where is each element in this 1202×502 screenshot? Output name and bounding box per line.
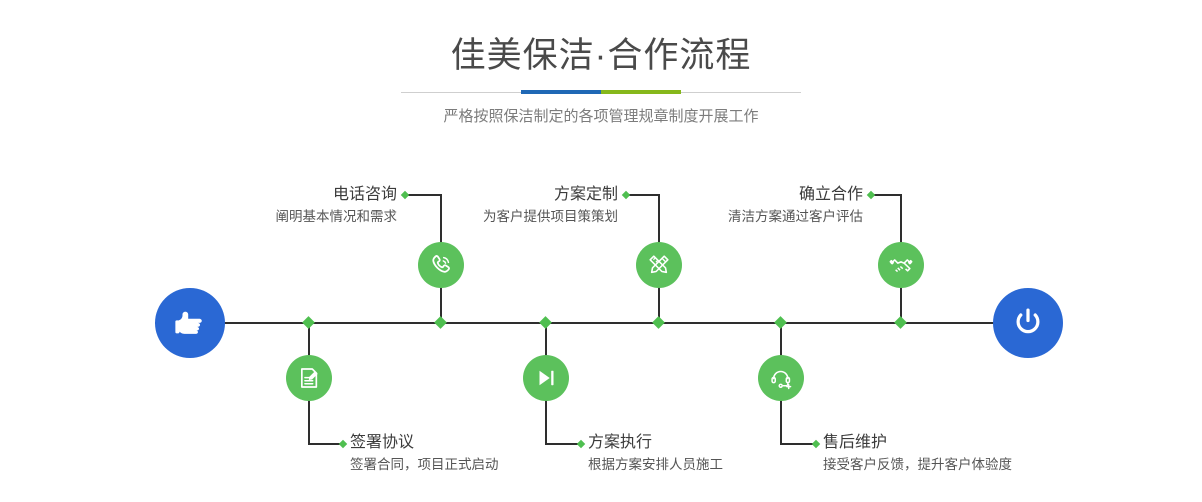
step-title-6: 售后维护: [823, 432, 1123, 453]
step-connector-h-6: [780, 443, 815, 445]
step-label-3: 方案定制 为客户提供项目策策划: [390, 184, 618, 227]
step-label-4: 方案执行 根据方案安排人员施工: [588, 432, 848, 475]
step-icon-3: [636, 242, 682, 288]
step-connector-h-1: [407, 194, 441, 196]
step-icon-5: [878, 242, 924, 288]
step-axis-marker-2: [302, 316, 315, 329]
step-icon-6: [758, 355, 804, 401]
step-axis-marker-4: [539, 316, 552, 329]
step-axis-marker-3: [652, 316, 665, 329]
timeline-axis: [155, 322, 1047, 324]
step-desc-5: 清洁方案通过客户评估: [635, 207, 863, 227]
step-icon-4: [523, 355, 569, 401]
step-connector-h-5: [873, 194, 901, 196]
step-desc-6: 接受客户反馈，提升客户体验度: [823, 455, 1123, 475]
step-desc-2: 签署合同，项目正式启动: [350, 455, 610, 475]
step-label-marker-5: [867, 191, 875, 199]
step-label-1: 电话咨询 阐明基本情况和需求: [165, 184, 397, 227]
play-next-icon: [533, 365, 559, 391]
step-desc-1: 阐明基本情况和需求: [165, 207, 397, 227]
step-label-marker-2: [339, 440, 347, 448]
step-connector-h-3: [628, 194, 659, 196]
step-label-marker-3: [622, 191, 630, 199]
step-title-1: 电话咨询: [165, 184, 397, 205]
timeline: 电话咨询 阐明基本情况和需求: [0, 0, 1202, 502]
step-desc-3: 为客户提供项目策策划: [390, 207, 618, 227]
document-sign-icon: [296, 365, 322, 391]
power-icon: [1009, 304, 1047, 342]
step-axis-marker-5: [894, 316, 907, 329]
step-icon-2: [286, 355, 332, 401]
step-desc-4: 根据方案安排人员施工: [588, 455, 848, 475]
timeline-end-node: [993, 288, 1063, 358]
step-label-6: 售后维护 接受客户反馈，提升客户体验度: [823, 432, 1123, 475]
cooperation-process-infographic: 佳美保洁·合作流程 严格按照保洁制定的各项管理规章制度开展工作: [0, 0, 1202, 502]
handshake-icon: [888, 252, 914, 278]
step-icon-1: [418, 242, 464, 288]
phone-call-icon: [428, 252, 454, 278]
pointing-hand-icon: [171, 304, 209, 342]
step-label-5: 确立合作 清洁方案通过客户评估: [635, 184, 863, 227]
step-label-2: 签署协议 签署合同，项目正式启动: [350, 432, 610, 475]
step-title-5: 确立合作: [635, 184, 863, 205]
pencil-ruler-icon: [646, 252, 672, 278]
step-axis-marker-1: [434, 316, 447, 329]
step-connector-h-2: [308, 443, 342, 445]
step-connector-h-4: [545, 443, 580, 445]
customer-service-add-icon: [768, 365, 794, 391]
timeline-start-node: [155, 288, 225, 358]
step-axis-marker-6: [774, 316, 787, 329]
